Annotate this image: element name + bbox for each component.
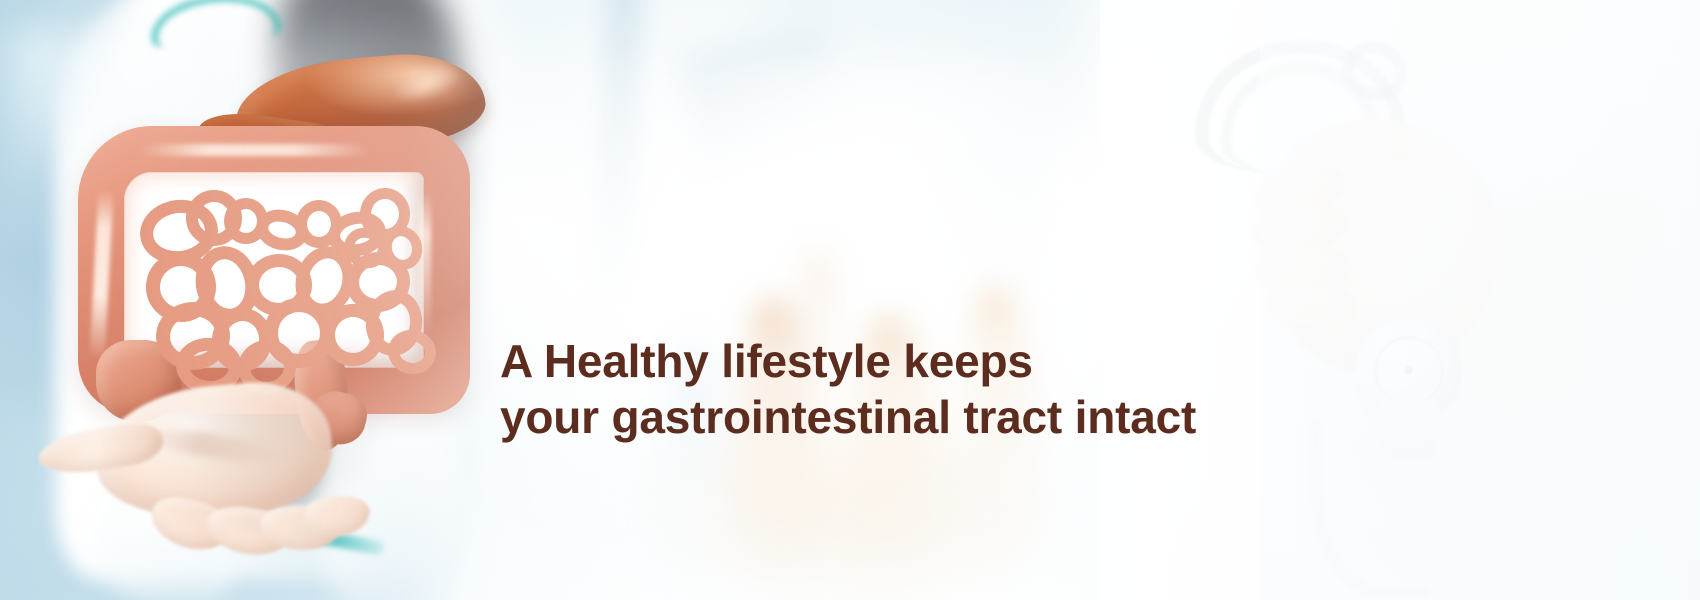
medical-hero-banner: A Healthy lifestyle keeps your gastroint… [0,0,1700,600]
background-figure-three-head [974,284,1012,330]
stethoscope-chestpiece-center [1404,366,1413,375]
open-hand-left [24,372,374,600]
stethoscope-chestpiece-stem [1378,400,1440,462]
hand-holding-stethoscope-scene [1130,0,1700,600]
headline-line-2: your gastrointestinal tract intact [500,389,1260,445]
headline-line-1: A Healthy lifestyle keeps [500,333,1260,389]
banner-headline: A Healthy lifestyle keeps your gastroint… [500,333,1260,445]
